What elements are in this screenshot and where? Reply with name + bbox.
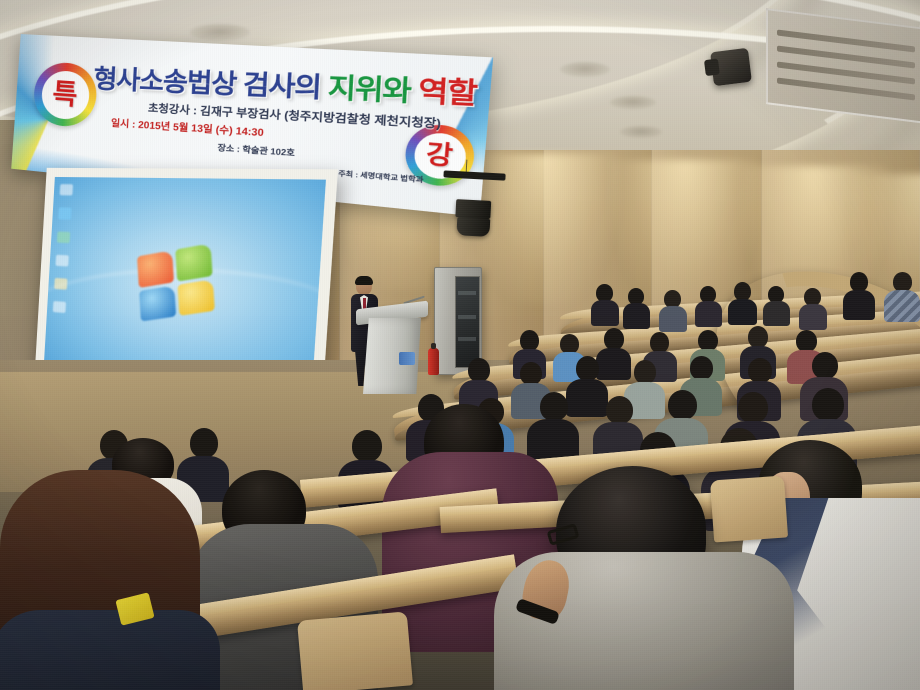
- lecture-hall-photo: 특 강 형사소송법상 검사의 지위와 역할 초청강사 : 김재구 부장검사 (청…: [0, 0, 920, 690]
- banner-title-part3: 역할: [417, 76, 477, 111]
- ceiling-hvac-unit: [766, 8, 920, 124]
- desktop-icon: [55, 255, 68, 267]
- windows-flag-icon: [137, 243, 215, 321]
- banner-datetime-label: 일시: [111, 118, 130, 131]
- hanging-speaker-icon: [450, 171, 495, 239]
- seat-back: [297, 611, 413, 690]
- banner-title-part2: 지위와: [327, 73, 411, 108]
- lectern: [363, 305, 421, 393]
- seat-back: [710, 475, 788, 542]
- desktop-icon: [60, 184, 73, 195]
- banner-emblem-left-text: 특: [40, 69, 90, 120]
- desktop-icon: [58, 207, 71, 220]
- brown-hair-student-jacket: [0, 610, 220, 690]
- desktop-icon: [57, 232, 70, 244]
- fire-extinguisher-icon: [428, 348, 439, 375]
- ceiling-projector-icon: [710, 48, 752, 86]
